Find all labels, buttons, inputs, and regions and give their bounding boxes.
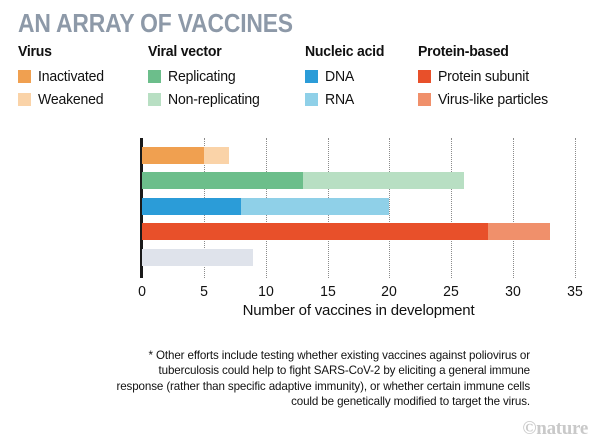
x-tick-label: 10 (258, 284, 274, 300)
stacked-bar[interactable] (142, 147, 229, 164)
legend-swatch-icon (305, 70, 318, 83)
bar-segment[interactable] (204, 147, 229, 164)
legend-item-label: Protein subunit (438, 69, 529, 85)
stacked-bar[interactable] (142, 223, 550, 240)
bar-row: Viral vector (142, 168, 575, 194)
x-tick-label: 15 (320, 284, 336, 300)
legend-item[interactable]: RNA (305, 88, 418, 111)
legend-item-label: Inactivated (38, 69, 104, 85)
bar-segment[interactable] (303, 172, 464, 189)
x-tick-label: 0 (138, 284, 146, 300)
legend-item[interactable]: Weakened (18, 88, 148, 111)
legend-item-label: Virus-like particles (438, 92, 548, 108)
legend-swatch-icon (418, 93, 431, 106)
bar-segment[interactable] (142, 223, 488, 240)
legend-swatch-icon (305, 93, 318, 106)
legend-group-heading: Virus (18, 44, 144, 60)
legend-swatch-icon (148, 70, 161, 83)
x-tick-label: 5 (200, 284, 208, 300)
bar-segment[interactable] (142, 147, 204, 164)
bar-row: Other* (142, 244, 575, 270)
chart-legend: VirusInactivatedWeakenedViral vectorRepl… (18, 44, 588, 120)
x-tick-label: 30 (505, 284, 521, 300)
legend-group-heading: Viral vector (148, 44, 300, 60)
bar-segment[interactable] (142, 198, 241, 215)
legend-group-viral-vector: Viral vectorReplicatingNon-replicating (148, 44, 305, 120)
page-title: AN ARRAY OF VACCINES (18, 8, 293, 39)
bar-segment[interactable] (241, 198, 389, 215)
legend-swatch-icon (18, 70, 31, 83)
infographic-root: AN ARRAY OF VACCINES VirusInactivatedWea… (0, 0, 600, 442)
plot-area: 05101520253035VirusViral vectorNucleic a… (142, 142, 575, 270)
bar-segment[interactable] (488, 223, 550, 240)
bar-segment[interactable] (142, 172, 303, 189)
bar-row: Nucleic acid (142, 193, 575, 219)
legend-item[interactable]: Non-replicating (148, 88, 305, 111)
legend-item[interactable]: DNA (305, 65, 418, 88)
legend-item-label: Replicating (168, 69, 235, 85)
legend-group-virus: VirusInactivatedWeakened (18, 44, 148, 120)
stacked-bar[interactable] (142, 198, 389, 215)
legend-group-protein-based: Protein-basedProtein subunitVirus-like p… (418, 44, 588, 120)
legend-group-nucleic-acid: Nucleic acidDNARNA (305, 44, 418, 120)
legend-swatch-icon (148, 93, 161, 106)
gridline (575, 138, 576, 278)
stacked-bar[interactable] (142, 249, 253, 266)
x-axis-label: Number of vaccines in development (142, 302, 575, 319)
x-tick-label: 25 (443, 284, 459, 300)
legend-item[interactable]: Replicating (148, 65, 305, 88)
bar-row: Protein-based (142, 219, 575, 245)
x-tick-label: 20 (382, 284, 398, 300)
legend-item[interactable]: Protein subunit (418, 65, 588, 88)
legend-item[interactable]: Virus-like particles (418, 88, 588, 111)
chart-plot: 05101520253035VirusViral vectorNucleic a… (0, 138, 600, 298)
bar-row: Virus (142, 142, 575, 168)
footnote-text: * Other efforts include testing whether … (110, 348, 530, 410)
bar-segment[interactable] (142, 249, 253, 266)
stacked-bar[interactable] (142, 172, 464, 189)
legend-swatch-icon (18, 93, 31, 106)
legend-group-heading: Protein-based (418, 44, 583, 60)
x-tick-label: 35 (567, 284, 583, 300)
legend-item-label: RNA (325, 92, 354, 108)
legend-group-heading: Nucleic acid (305, 44, 415, 60)
legend-item[interactable]: Inactivated (18, 65, 148, 88)
nature-logo: ©nature (522, 418, 588, 440)
legend-item-label: DNA (325, 69, 354, 85)
legend-item-label: Non-replicating (168, 92, 260, 108)
legend-item-label: Weakened (38, 92, 103, 108)
legend-swatch-icon (418, 70, 431, 83)
